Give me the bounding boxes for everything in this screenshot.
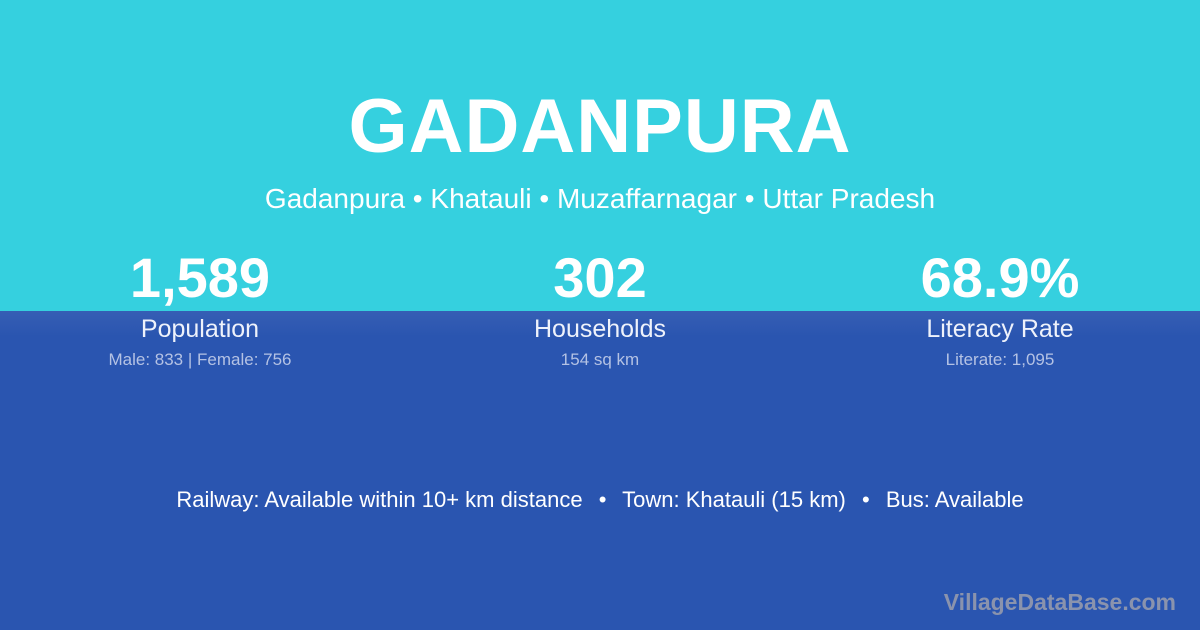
facility-railway: Railway: Available within 10+ km distanc… (176, 487, 582, 512)
stats-row: 1,589 Population Male: 833 | Female: 756… (0, 245, 1200, 371)
stat-label: Households (400, 313, 800, 345)
stat-label: Literacy Rate (800, 313, 1200, 345)
stat-value: 68.9% (800, 245, 1200, 311)
village-info-card: GADANPURA Gadanpura • Khatauli • Muzaffa… (0, 0, 1200, 630)
facility-nearest-town: Town: Khatauli (15 km) (622, 487, 846, 512)
facilities-line: Railway: Available within 10+ km distanc… (0, 484, 1200, 516)
stat-sublabel: Literate: 1,095 (800, 349, 1200, 371)
stat-label: Population (0, 313, 400, 345)
stat-sublabel: 154 sq km (400, 349, 800, 371)
stat-sublabel: Male: 833 | Female: 756 (0, 349, 400, 371)
bullet-separator-icon: • (589, 484, 617, 516)
stat-value: 302 (400, 245, 800, 311)
stat-households: 302 Households 154 sq km (400, 245, 800, 371)
bullet-separator-icon: • (852, 484, 880, 516)
stat-population: 1,589 Population Male: 833 | Female: 756 (0, 245, 400, 371)
site-watermark: VillageDataBase.com (944, 587, 1176, 617)
facility-bus: Bus: Available (886, 487, 1024, 512)
page-title: GADANPURA (0, 82, 1200, 172)
stat-literacy-rate: 68.9% Literacy Rate Literate: 1,095 (800, 245, 1200, 371)
breadcrumb: Gadanpura • Khatauli • Muzaffarnagar • U… (0, 181, 1200, 217)
stat-value: 1,589 (0, 245, 400, 311)
